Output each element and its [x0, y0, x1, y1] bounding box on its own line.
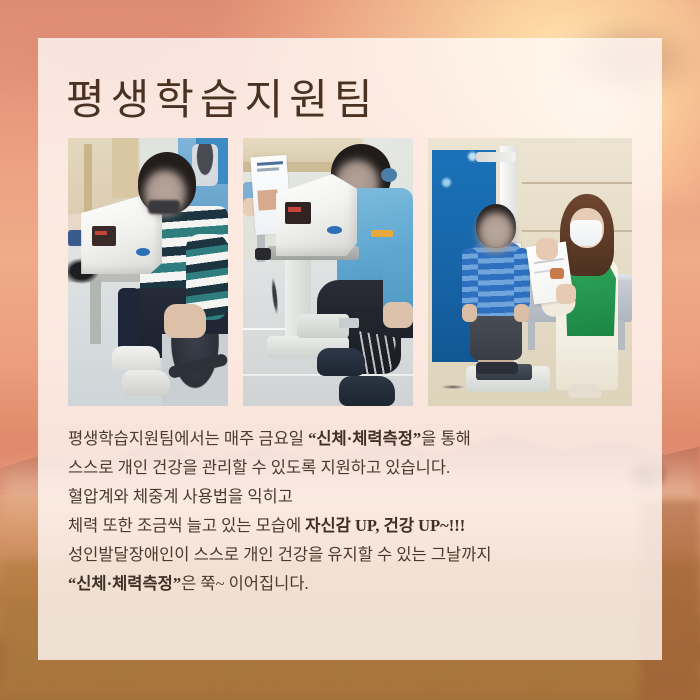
body-text: 은 쭉~ 이어집니다. — [181, 574, 309, 593]
page-title: 평생학습지원팀 — [66, 66, 378, 127]
body-text: 스스로 개인 건강을 관리할 수 있도록 지원하고 있습니다. — [68, 458, 450, 477]
emphasis-text: “신체·체력측정” — [68, 574, 181, 593]
monitor-display — [92, 226, 116, 246]
emphasis-text: 자신감 UP, 건강 UP~!!! — [305, 516, 465, 535]
body-text: 체력 또한 조금씩 늘고 있는 모습에 — [68, 516, 305, 535]
body-text: 혈압계와 체중계 사용법을 익히고 — [68, 487, 293, 506]
body-text: 성인발달장애인이 스스로 개인 건강을 유지할 수 있는 그날까지 — [68, 545, 492, 564]
face-mask — [570, 220, 602, 246]
body-copy-line-2: 스스로 개인 건강을 관리할 수 있도록 지원하고 있습니다. — [68, 453, 634, 482]
body-copy-line-5: 성인발달장애인이 스스로 개인 건강을 유지할 수 있는 그날까지 — [68, 540, 634, 569]
photo-blood-pressure-seated-hoodie — [243, 138, 413, 406]
photo-blood-pressure-seated-striped — [68, 138, 228, 406]
body-text: 평생학습지원팀에서는 매주 금요일 — [68, 429, 308, 448]
wristwatch — [550, 268, 564, 279]
emphasis-text: “신체·체력측정” — [308, 429, 421, 448]
body-copy-line-3: 혈압계와 체중계 사용법을 익히고 — [68, 482, 634, 511]
promo-card: 평생학습지원팀 — [0, 0, 700, 700]
body-copy: 평생학습지원팀에서는 매주 금요일 “신체·체력측정”을 통해스스로 개인 건강… — [68, 424, 634, 598]
photo-height-weight-measurement — [428, 138, 632, 406]
blurred-face — [478, 212, 514, 252]
body-copy-line-6: “신체·체력측정”은 쭉~ 이어집니다. — [68, 569, 634, 598]
monitor-display — [285, 202, 311, 224]
photo-strip — [68, 138, 632, 406]
face-mask — [148, 200, 180, 214]
body-text: 을 통해 — [421, 429, 471, 448]
body-copy-line-4: 체력 또한 조금씩 늘고 있는 모습에 자신감 UP, 건강 UP~!!! — [68, 511, 634, 540]
body-copy-line-1: 평생학습지원팀에서는 매주 금요일 “신체·체력측정”을 통해 — [68, 424, 634, 453]
